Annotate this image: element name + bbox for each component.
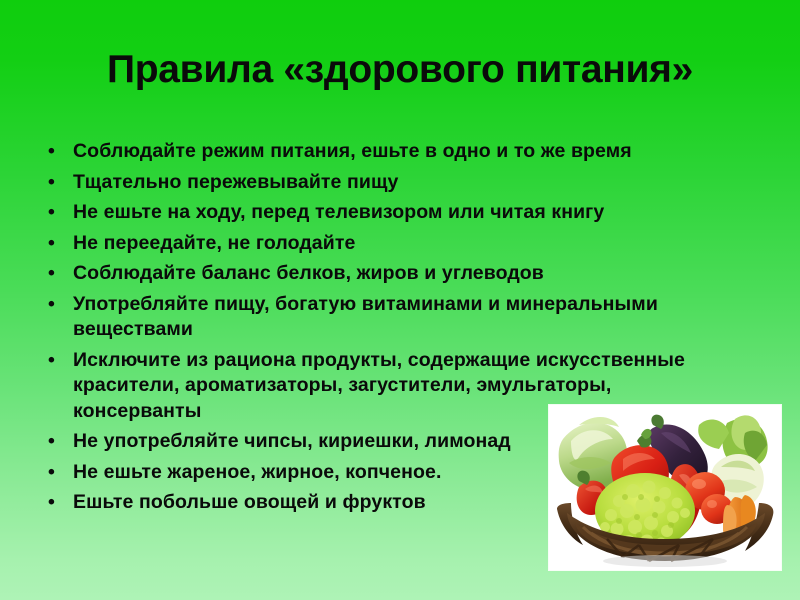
bullet-icon: • bbox=[48, 348, 60, 374]
list-item-label: Употребляйте пищу, богатую витаминами и … bbox=[73, 292, 734, 343]
bullet-icon: • bbox=[48, 200, 60, 226]
vegetable-basket-photo bbox=[549, 405, 781, 570]
list-item: • Соблюдайте баланс белков, жиров и угле… bbox=[44, 261, 734, 287]
bullet-icon: • bbox=[48, 460, 60, 486]
list-item-label: Соблюдайте режим питания, ешьте в одно и… bbox=[73, 139, 734, 165]
bullet-icon: • bbox=[48, 490, 60, 516]
bullet-icon: • bbox=[48, 292, 60, 318]
page-title: Правила «здорового питания» bbox=[0, 47, 800, 93]
list-item: • Не ешьте на ходу, перед телевизором ил… bbox=[44, 200, 734, 226]
bullet-icon: • bbox=[48, 231, 60, 257]
bullet-icon: • bbox=[48, 261, 60, 287]
list-item-label: Тщательно пережевывайте пищу bbox=[73, 170, 734, 196]
list-item-label: Соблюдайте баланс белков, жиров и углево… bbox=[73, 261, 734, 287]
presentation-slide: Правила «здорового питания» • Соблюдайте… bbox=[0, 0, 800, 600]
list-item: • Соблюдайте режим питания, ешьте в одно… bbox=[44, 139, 734, 165]
list-item-label: Не ешьте на ходу, перед телевизором или … bbox=[73, 200, 734, 226]
list-item: • Употребляйте пищу, богатую витаминами … bbox=[44, 292, 734, 343]
bullet-icon: • bbox=[48, 170, 60, 196]
list-item: • Тщательно пережевывайте пищу bbox=[44, 170, 734, 196]
list-item: • Не переедайте, не голодайте bbox=[44, 231, 734, 257]
bullet-icon: • bbox=[48, 429, 60, 455]
bullet-icon: • bbox=[48, 139, 60, 165]
list-item-label: Не переедайте, не голодайте bbox=[73, 231, 734, 257]
